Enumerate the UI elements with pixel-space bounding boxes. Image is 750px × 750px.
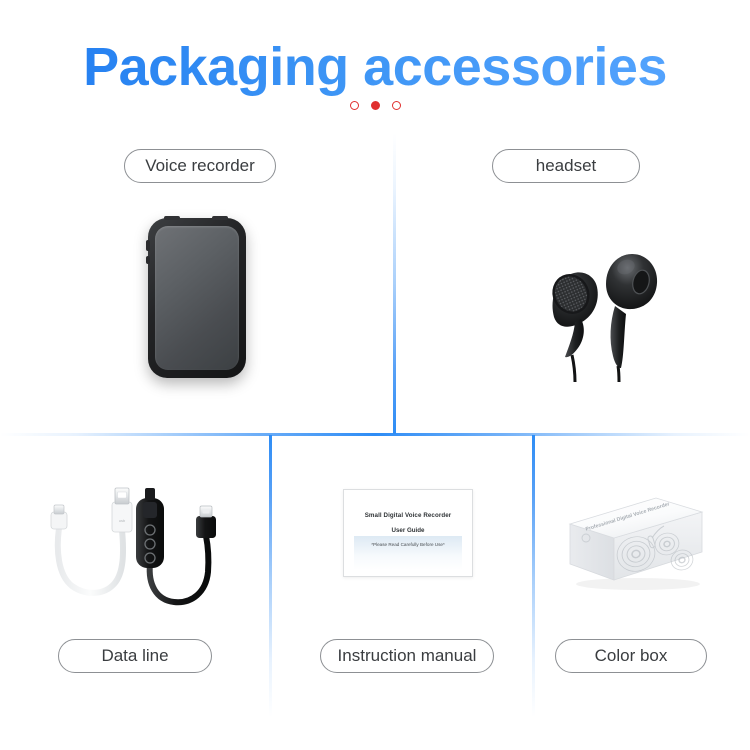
recorder-screen (155, 226, 239, 370)
label-voice-recorder: Voice recorder (124, 149, 276, 183)
dot-hollow-right (392, 101, 401, 110)
recorder-side-button-upper (146, 240, 150, 251)
header: Packaging accessories (0, 0, 750, 130)
divider-vertical-top (393, 133, 396, 434)
divider-vertical-bottom-left (269, 435, 272, 717)
color-box-icon: Professional Digital Voice Recorder (556, 478, 716, 596)
svg-text:usb: usb (119, 518, 126, 523)
divider-vertical-bottom-right (532, 435, 535, 717)
label-instruction-manual: Instruction manual (320, 639, 494, 673)
dot-solid-center (371, 101, 380, 110)
manual-title-line: Small Digital Voice Recorder (365, 512, 452, 519)
manual-cover-text: Small Digital Voice Recorder User Guide … (344, 490, 472, 576)
voice-recorder-icon (148, 218, 246, 378)
dot-hollow-left (350, 101, 359, 110)
usb-cables-icon: usb (40, 480, 260, 610)
earbuds-icon (520, 222, 670, 382)
label-data-line: Data line (58, 639, 212, 673)
packaging-accessories-infographic: Packaging accessories Voice recorder hea… (0, 0, 750, 750)
recorder-top-nub-left (164, 216, 180, 220)
dot-indicator-group (0, 101, 750, 110)
label-color-box: Color box (555, 639, 707, 673)
recorder-body (148, 218, 246, 378)
recorder-top-nub-right (212, 216, 228, 220)
page-title: Packaging accessories (0, 36, 750, 98)
recorder-side-button-lower (146, 256, 150, 264)
instruction-manual-icon: Small Digital Voice Recorder User Guide … (343, 489, 473, 577)
manual-note-line: *Please Read Carefully Before Use* (371, 542, 445, 547)
divider-horizontal (0, 433, 750, 436)
manual-subtitle-line: User Guide (391, 527, 424, 534)
label-headset: headset (492, 149, 640, 183)
